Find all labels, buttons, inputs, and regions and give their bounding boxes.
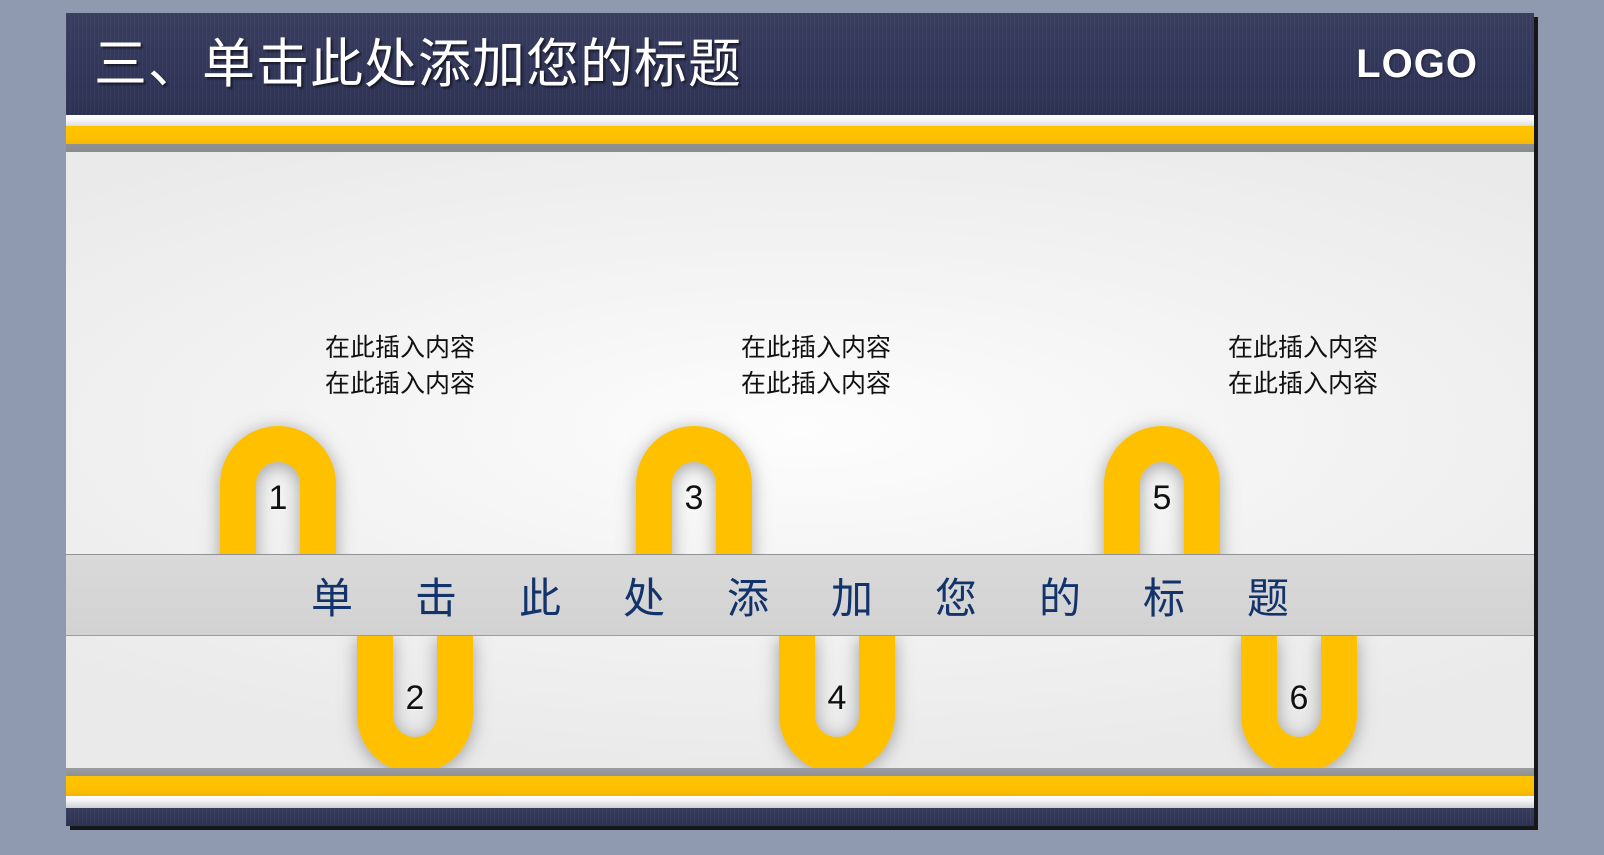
footer-accent-rule xyxy=(66,776,1534,796)
page-title: 三、单击此处添加您的标题 xyxy=(94,38,742,91)
hook-number-6: 6 xyxy=(1233,679,1365,718)
caption-line: 在此插入内容 xyxy=(741,367,891,403)
caption-item-1: 在此插入内容 在此插入内容 xyxy=(325,331,475,402)
caption-line: 在此插入内容 xyxy=(1228,367,1378,403)
header-silver-rule xyxy=(66,115,1534,126)
caption-line: 在此插入内容 xyxy=(741,331,891,367)
presentation-slide: 三、单击此处添加您的标题 LOGO 在此插入内容 在此插入内容 在此插入内容 在… xyxy=(66,13,1534,826)
header-gray-rule xyxy=(66,144,1534,152)
caption-line: 在此插入内容 xyxy=(1228,331,1378,367)
slide-header: 三、单击此处添加您的标题 LOGO xyxy=(66,13,1534,115)
band-title-text: 单击此处添加您的标题 xyxy=(249,565,1351,626)
footer-navy-bar xyxy=(66,808,1534,826)
hook-number-1: 1 xyxy=(212,479,344,518)
caption-line: 在此插入内容 xyxy=(325,367,475,403)
hook-number-3: 3 xyxy=(628,479,760,518)
caption-line: 在此插入内容 xyxy=(325,331,475,367)
caption-item-5: 在此插入内容 在此插入内容 xyxy=(1228,331,1378,402)
hook-number-4: 4 xyxy=(771,679,903,718)
header-accent-rule xyxy=(66,126,1534,144)
hook-number-5: 5 xyxy=(1096,479,1228,518)
slide-body: 在此插入内容 在此插入内容 在此插入内容 在此插入内容 在此插入内容 在此插入内… xyxy=(66,152,1534,768)
footer-gray-rule xyxy=(66,768,1534,776)
hook-number-2: 2 xyxy=(349,679,481,718)
caption-item-3: 在此插入内容 在此插入内容 xyxy=(741,331,891,402)
center-title-band: 单击此处添加您的标题 xyxy=(66,554,1534,636)
logo-placeholder: LOGO xyxy=(1356,42,1478,87)
footer-silver-rule xyxy=(66,796,1534,808)
